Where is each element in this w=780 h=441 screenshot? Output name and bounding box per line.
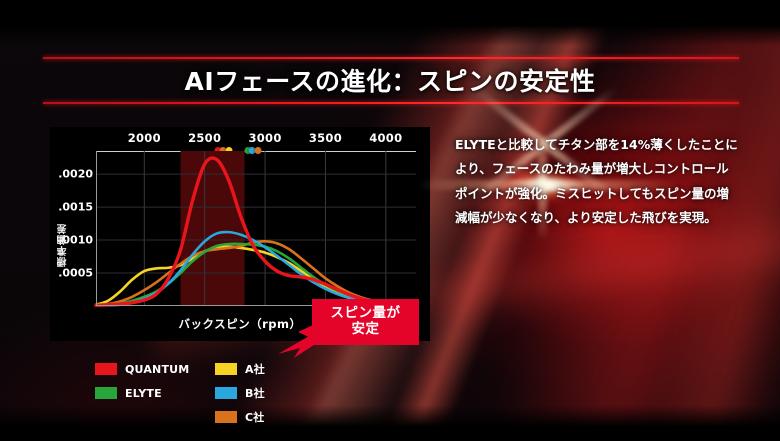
title-rule-top [43,57,739,59]
legend-label: B社 [245,385,265,401]
legend-item: ELYTE [95,384,189,402]
callout-box: スピン量が 安定 [312,299,419,345]
description-line: 減幅が少なくなり、より安定した飛びを実現。 [455,206,745,230]
description-line: より、フェースのたわみ量が増大しコントロール [455,157,745,181]
legend-swatch [215,411,237,423]
callout-line-2: 安定 [352,322,380,338]
plot-border [96,151,416,306]
y-tick-label: .0015 [58,201,93,214]
plot-area: .0005.0010.0015.0020 [96,151,416,306]
x-tick-label: 3500 [309,131,342,145]
legend-label: ELYTE [125,387,162,400]
legend-swatch [95,387,117,399]
legend-column-2: A社B社C社 [215,360,265,432]
legend-swatch [215,387,237,399]
description-line: ポイントが強化。ミスヒットしてもスピン量の増 [455,182,745,206]
title-rule-bottom [43,102,739,104]
legend-item: C社 [215,408,265,426]
legend-label: C社 [245,409,264,425]
y-axis-title: 標準偏差 [56,223,71,267]
x-tick-label: 2000 [128,131,161,145]
legend-label: QUANTUM [125,363,189,376]
x-tick-label: 4000 [369,131,402,145]
callout-line-1: スピン量が [331,306,401,322]
x-axis-tick-labels: 20002500300035004000 [50,131,430,147]
legend-item: B社 [215,384,265,402]
callout-tail [298,325,313,339]
slide-root: AIフェースの進化：スピンの安定性 20002500300035004000 .… [0,0,780,441]
y-tick-label: .0020 [58,168,93,181]
legend-item: QUANTUM [95,360,189,378]
legend-swatch [95,363,117,375]
x-tick-label: 3000 [248,131,281,145]
chart-legend: QUANTUMELYTE A社B社C社 [95,360,325,424]
page-title: AIフェースの進化：スピンの安定性 [0,62,780,98]
legend-column-1: QUANTUMELYTE [95,360,189,408]
x-tick-label: 2500 [188,131,221,145]
y-tick-label: .0005 [58,267,93,280]
description-text: ELYTEと比較してチタン部を14%薄くしたことにより、フェースのたわみ量が増大… [455,133,745,231]
legend-label: A社 [245,361,265,377]
description-line: ELYTEと比較してチタン部を14%薄くしたことに [455,133,745,157]
top-vignette [0,0,780,46]
legend-item: A社 [215,360,265,378]
spin-distribution-chart: 20002500300035004000 .0005.0010.0015.002… [50,127,430,341]
legend-swatch [215,363,237,375]
